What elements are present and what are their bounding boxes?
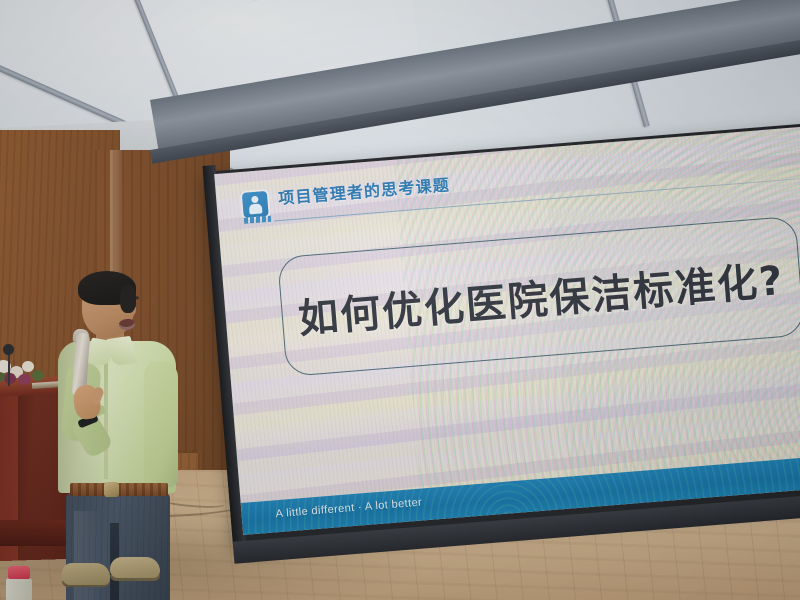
flower-leaf: [32, 370, 44, 381]
presenter: [48, 275, 183, 600]
presenter-belt: [70, 483, 168, 496]
presenter-hair-side: [120, 285, 136, 313]
presenter-shoe: [110, 557, 160, 578]
projection-screen: 项目管理者的思考课题 如何优化医院保洁标准化? A little differe…: [203, 121, 800, 546]
presenter-shirt-placket: [104, 359, 108, 479]
presenter-mouth: [118, 318, 135, 331]
flower: [18, 374, 31, 385]
water-bottle: [6, 566, 32, 600]
water-bottle-body: [6, 578, 32, 600]
podium-microphone-stand: [8, 352, 10, 386]
slide-header-title: 项目管理者的思考课题: [277, 171, 450, 209]
flower: [22, 361, 34, 372]
flower: [4, 373, 16, 384]
water-bottle-cap: [8, 566, 30, 579]
projected-slide: 项目管理者的思考课题 如何优化医院保洁标准化? A little differe…: [214, 123, 800, 535]
presenter-right-arm: [144, 361, 178, 487]
photo-scene: 项目管理者的思考课题 如何优化医院保洁标准化? A little differe…: [0, 0, 800, 600]
logo-blocks-decoration: [244, 216, 271, 224]
podium-microphone-head: [3, 344, 14, 355]
presenter-shoe: [62, 563, 110, 585]
presenter-belt-buckle: [104, 482, 119, 497]
person-in-square-logo-icon: [242, 191, 269, 218]
